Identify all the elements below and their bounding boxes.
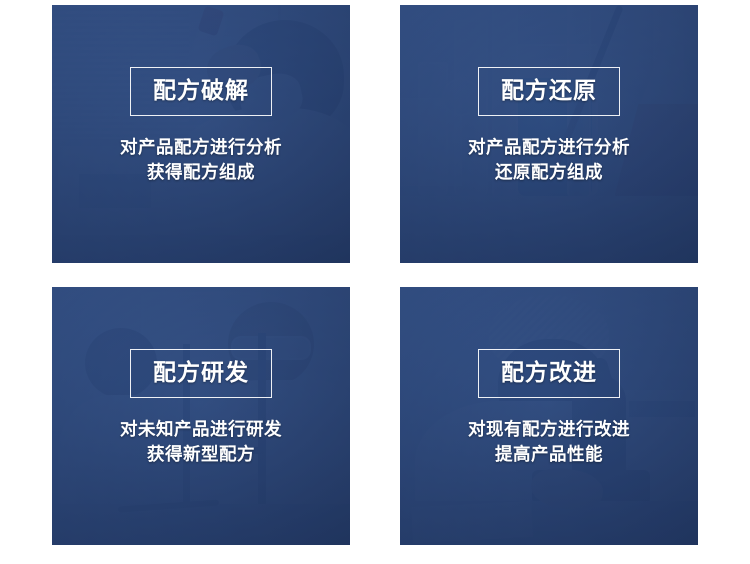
card-content-formula-improvement: 配方改进 对现有配方进行改进 提高产品性能 <box>400 287 698 467</box>
card-subtitle-line1-formula-development: 对未知产品进行研发 <box>120 417 282 442</box>
card-subtitle-formula-restoration: 对产品配方进行分析 还原配方组成 <box>468 135 630 185</box>
service-grid-page: 配方破解 对产品配方进行分析 获得配方组成 <box>0 0 750 564</box>
card-subtitle-formula-development: 对未知产品进行研发 获得新型配方 <box>120 417 282 467</box>
service-card-formula-development[interactable]: 配方研发 对未知产品进行研发 获得新型配方 <box>52 287 350 545</box>
service-card-formula-restoration[interactable]: 配方还原 对产品配方进行分析 还原配方组成 <box>400 5 698 263</box>
card-title-formula-development: 配方研发 <box>153 360 249 385</box>
card-title-box-formula-decoding: 配方破解 <box>130 67 272 116</box>
card-subtitle-line2-formula-restoration: 还原配方组成 <box>468 160 630 185</box>
card-subtitle-line2-formula-improvement: 提高产品性能 <box>468 442 630 467</box>
service-card-grid: 配方破解 对产品配方进行分析 获得配方组成 <box>52 5 698 545</box>
card-title-box-formula-improvement: 配方改进 <box>478 349 620 398</box>
card-title-box-formula-restoration: 配方还原 <box>478 67 620 116</box>
card-subtitle-formula-decoding: 对产品配方进行分析 获得配方组成 <box>120 135 282 185</box>
card-subtitle-line2-formula-decoding: 获得配方组成 <box>120 160 282 185</box>
service-card-formula-improvement[interactable]: 配方改进 对现有配方进行改进 提高产品性能 <box>400 287 698 545</box>
card-title-formula-decoding: 配方破解 <box>153 78 249 103</box>
card-subtitle-line1-formula-improvement: 对现有配方进行改进 <box>468 417 630 442</box>
card-subtitle-formula-improvement: 对现有配方进行改进 提高产品性能 <box>468 417 630 467</box>
card-content-formula-restoration: 配方还原 对产品配方进行分析 还原配方组成 <box>400 5 698 185</box>
card-subtitle-line2-formula-development: 获得新型配方 <box>120 442 282 467</box>
card-content-formula-development: 配方研发 对未知产品进行研发 获得新型配方 <box>52 287 350 467</box>
card-title-formula-restoration: 配方还原 <box>501 78 597 103</box>
card-content-formula-decoding: 配方破解 对产品配方进行分析 获得配方组成 <box>52 5 350 185</box>
card-subtitle-line1-formula-restoration: 对产品配方进行分析 <box>468 135 630 160</box>
card-title-formula-improvement: 配方改进 <box>501 360 597 385</box>
service-card-formula-decoding[interactable]: 配方破解 对产品配方进行分析 获得配方组成 <box>52 5 350 263</box>
card-title-box-formula-development: 配方研发 <box>130 349 272 398</box>
card-subtitle-line1-formula-decoding: 对产品配方进行分析 <box>120 135 282 160</box>
